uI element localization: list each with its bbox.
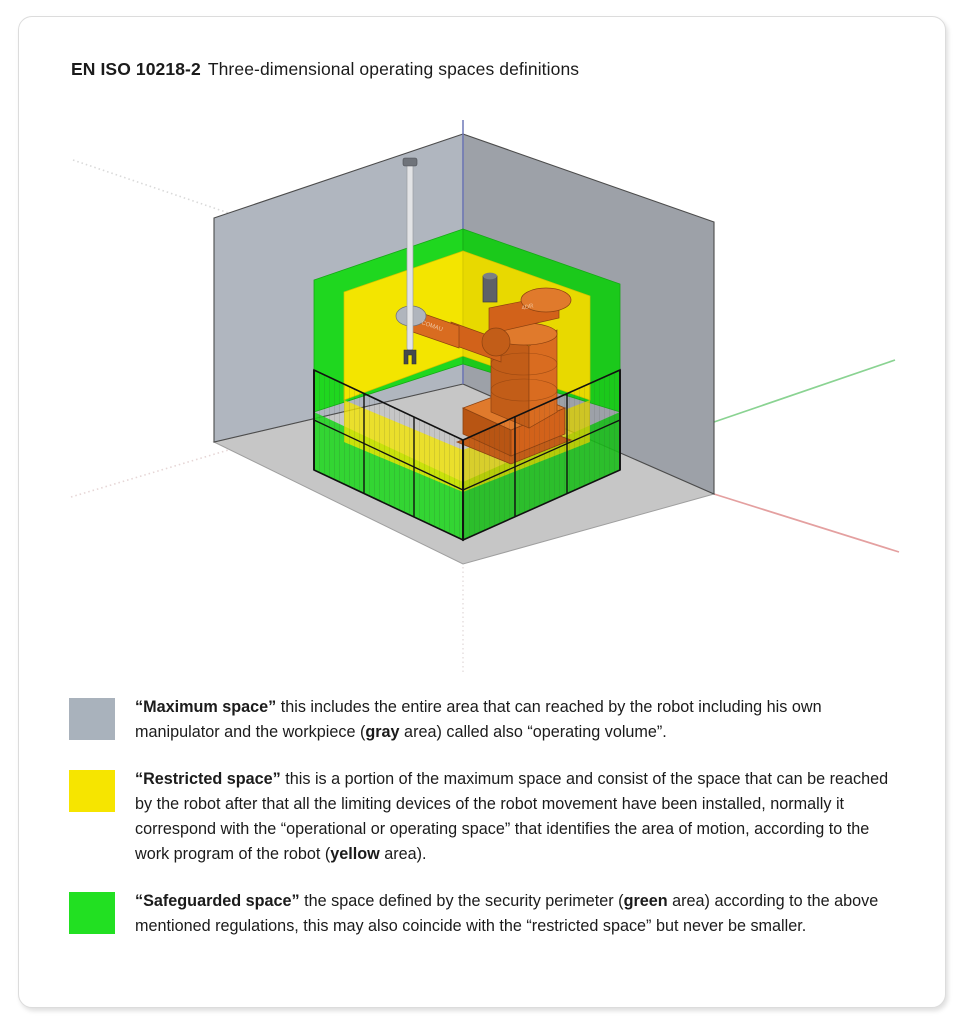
axis-red-positive [714, 494, 899, 552]
diagram-3d-operating-spaces: COMAU 4DR [59, 112, 909, 682]
title-subtitle: Three-dimensional operating spaces defin… [208, 59, 579, 79]
axis-red-negative-dotted [71, 442, 255, 497]
swatch-restricted-space [69, 770, 115, 812]
legend-emphasis: green [624, 892, 668, 910]
legend-item-maximum-space: “Maximum space” this includes the entire… [69, 695, 905, 745]
swatch-safeguarded-space [69, 892, 115, 934]
legend-emphasis: yellow [330, 845, 379, 863]
content-card: EN ISO 10218-2Three-dimensional operatin… [18, 16, 946, 1008]
legend-term: “Restricted space” [135, 770, 281, 788]
axis-green-positive [714, 360, 895, 422]
standard-code: EN ISO 10218-2 [71, 59, 201, 79]
page-root: EN ISO 10218-2Three-dimensional operatin… [0, 0, 963, 1024]
legend-term: “Safeguarded space” [135, 892, 300, 910]
legend-emphasis: gray [365, 723, 399, 741]
legend-term: “Maximum space” [135, 698, 276, 716]
axis-green-negative-dotted [73, 160, 255, 222]
legend-item-restricted-space: “Restricted space” this is a portion of … [69, 767, 905, 867]
legend: “Maximum space” this includes the entire… [69, 695, 905, 961]
legend-item-safeguarded-space: “Safeguarded space” the space defined by… [69, 889, 905, 939]
swatch-maximum-space [69, 698, 115, 740]
legend-text-restricted-space: “Restricted space” this is a portion of … [135, 767, 905, 867]
page-title: EN ISO 10218-2Three-dimensional operatin… [71, 59, 579, 80]
legend-text-safeguarded-space: “Safeguarded space” the space defined by… [135, 889, 905, 939]
legend-text-maximum-space: “Maximum space” this includes the entire… [135, 695, 905, 745]
